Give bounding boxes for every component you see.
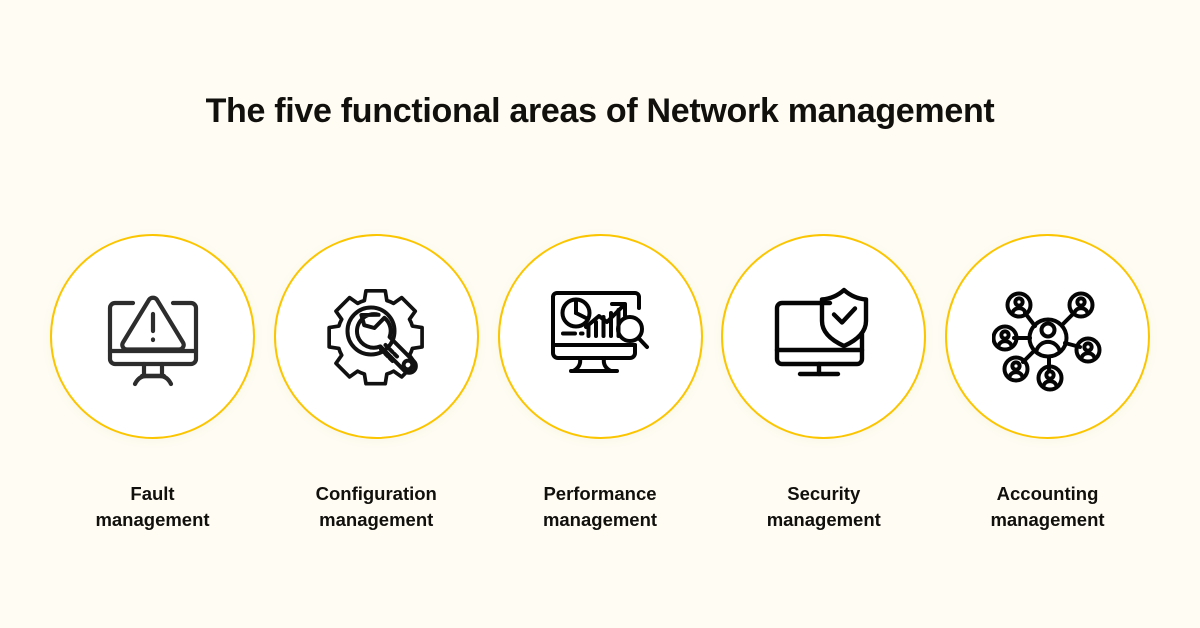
card-accounting-management: Accounting management bbox=[945, 234, 1150, 532]
monitor-analytics-icon bbox=[544, 281, 656, 393]
gear-wrench-icon bbox=[320, 281, 432, 393]
card-security-management: Security management bbox=[721, 234, 926, 532]
card-label-accounting: Accounting management bbox=[990, 481, 1104, 532]
page-title: The five functional areas of Network man… bbox=[0, 92, 1200, 131]
icon-circle-configuration bbox=[274, 234, 479, 439]
icon-circle-security bbox=[721, 234, 926, 439]
user-network-icon bbox=[992, 281, 1104, 393]
functional-areas-list: Fault management bbox=[50, 234, 1150, 532]
card-configuration-management: Configuration management bbox=[274, 234, 479, 532]
icon-circle-accounting bbox=[945, 234, 1150, 439]
card-fault-management: Fault management bbox=[50, 234, 255, 532]
card-label-security: Security management bbox=[767, 481, 881, 532]
card-label-performance: Performance management bbox=[543, 481, 657, 532]
card-performance-management: Performance management bbox=[498, 234, 703, 532]
icon-circle-performance bbox=[498, 234, 703, 439]
card-label-fault: Fault management bbox=[95, 481, 209, 532]
icon-circle-fault bbox=[50, 234, 255, 439]
card-label-configuration: Configuration management bbox=[316, 481, 437, 532]
monitor-shield-check-icon bbox=[768, 281, 880, 393]
monitor-warning-icon bbox=[97, 281, 209, 393]
infographic-page: The five functional areas of Network man… bbox=[0, 0, 1200, 628]
